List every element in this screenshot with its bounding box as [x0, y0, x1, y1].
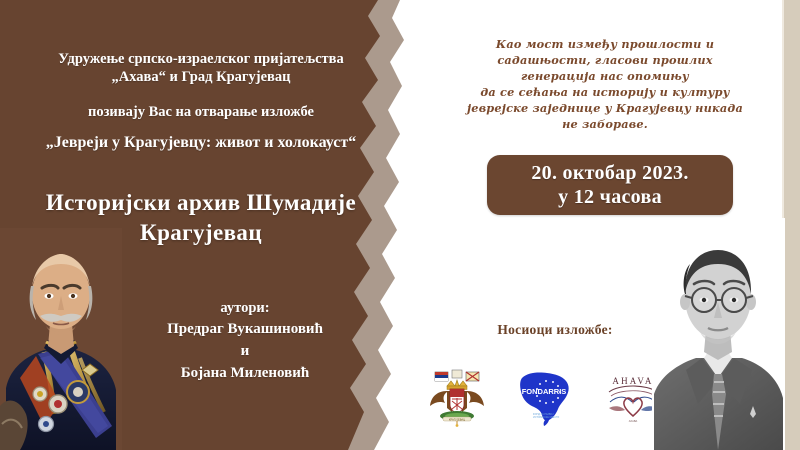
quote-line-6: не забораве.: [440, 116, 770, 132]
organizers-label: Носиоци изложбе:: [430, 322, 680, 338]
author-name-2: Бојана Миленовић: [90, 363, 400, 385]
association-line-2: „Ахава“ и Град Крагујевац: [6, 68, 396, 86]
ahava-wordmark: AHAVA: [612, 376, 653, 386]
fondarris-wordmark: FONDARRIS: [522, 387, 567, 396]
quote-line-4: да се сећања на историју и културу: [440, 84, 770, 100]
invite-line: позивају Вас на отварање изложбе: [6, 103, 396, 121]
date-line-1: 20. октобар 2023.: [531, 161, 688, 185]
exhibition-poster: Удружење српско-израелског пријатељства …: [0, 0, 800, 450]
author-name-1: Предраг Вукашиновић: [90, 319, 400, 341]
venue-line-1: Историјски архив Шумадије: [6, 188, 396, 218]
quote-line-1: Као мост између прошлости и: [440, 36, 770, 52]
fondarris-subtext-2: ИСТОРИЈСКЕ СВЕСТИ: [533, 416, 559, 419]
authors-conjunction: и: [90, 341, 400, 363]
coat-of-arms-kragujevac-icon: КРАГУЈЕВАЦ: [425, 364, 489, 428]
quote-line-3: генерација нас опомињу: [440, 68, 770, 84]
portrait-milos-obrenovic: [0, 228, 122, 450]
ahava-subtext: АХАВА: [629, 419, 638, 423]
date-line-2: у 12 часова: [531, 185, 688, 209]
date-badge-text: 20. октобар 2023. у 12 часова: [531, 161, 688, 210]
right-edge-beige-strip: [784, 0, 800, 450]
date-badge: 20. октобар 2023. у 12 часова: [487, 155, 733, 215]
organizer-logos: КРАГУЈЕВАЦ FONDARRIS ФОНД ЗА РАЗВО: [425, 362, 665, 428]
quote-text: Као мост између прошлости и садашњости, …: [440, 36, 770, 132]
quote-line-2: садашњости, гласови прошлих: [440, 52, 770, 68]
association-line: Удружење српско-израелског пријатељства: [6, 50, 396, 68]
exhibition-title: „Јевреји у Крагујевцу: живот и холокауст…: [6, 133, 396, 153]
quote-line-5: јеврејске заједнице у Крагујевцу никада: [440, 100, 770, 116]
portrait-man-glasses: [652, 218, 785, 450]
fondarris-serbia-map-icon: FONDARRIS ФОНД ЗА РАЗВОЈ ИСТОРИЈСКЕ СВЕС…: [513, 364, 577, 428]
coat-of-arms-caption: КРАГУЈЕВАЦ: [449, 417, 465, 421]
authors-block: аутори: Предраг Вукашиновић и Бојана Мил…: [90, 298, 400, 384]
authors-label: аутори:: [90, 298, 400, 319]
